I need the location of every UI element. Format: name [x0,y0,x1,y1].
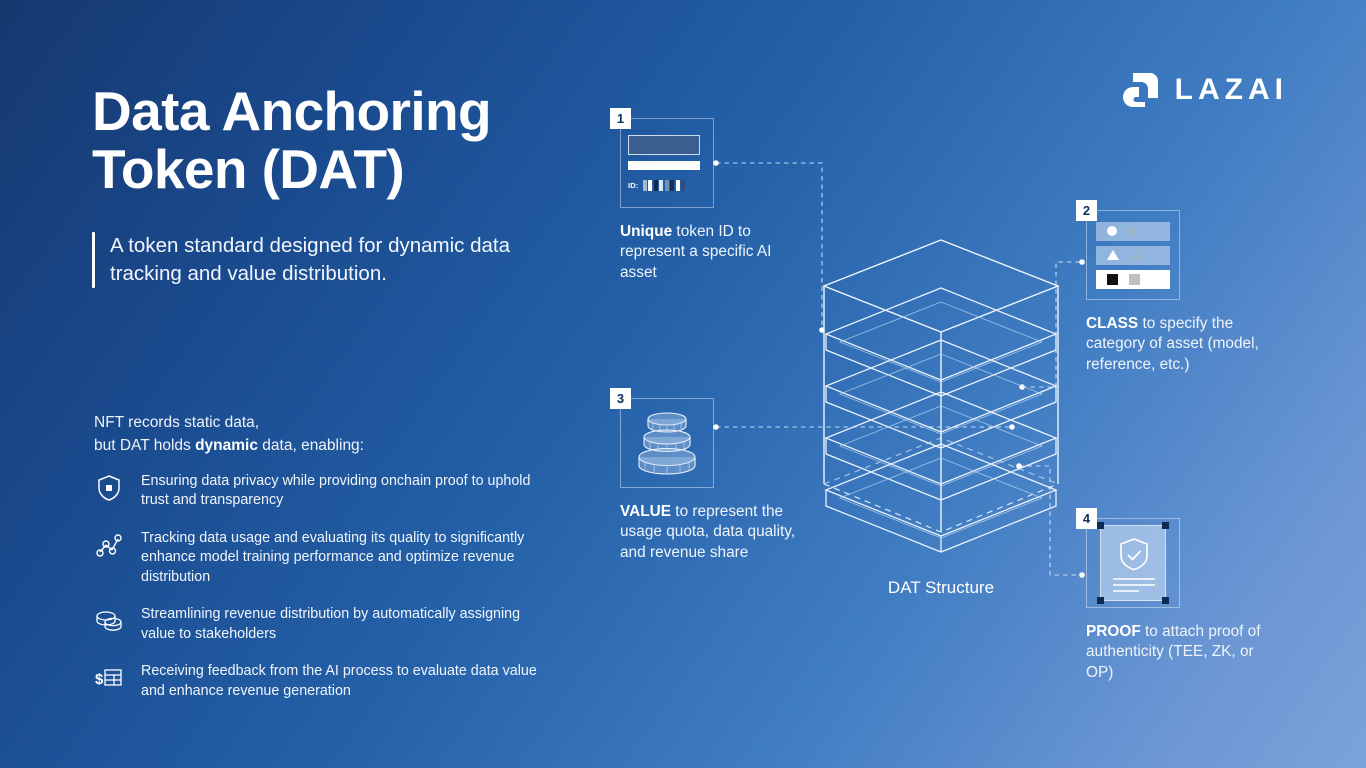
card1-light-bar [628,161,700,170]
brand-name: LAZAI [1175,75,1288,105]
class-shapes-icon: 2 [1086,210,1180,300]
card2-row-circles [1096,222,1170,241]
page-subtitle: A token standard designed for dynamic da… [110,232,562,288]
card2-row-squares [1096,270,1170,289]
page-title: Data Anchoring Token (DAT) [92,82,612,199]
benefits-list: Ensuring data privacy while providing on… [94,470,544,717]
card4-corner-marker [1162,522,1169,529]
list-item-label: Streamlining revenue distribution by aut… [141,603,544,644]
lazai-mark-icon [1123,72,1159,108]
card4-document [1100,525,1166,601]
dat-structure-diagram [806,236,1076,566]
structure-label: DAT Structure [806,578,1076,598]
card4-corner-marker [1097,597,1104,604]
callout-card-3: 3 VALUE to repres [620,398,810,563]
card1-barcode [643,180,686,191]
shield-icon [94,470,124,504]
card1-dark-bar [628,135,700,155]
callout-card-2: 2 CLASS to specify the category of asset… [1086,210,1276,375]
intro-line-2-suffix: data, enabling: [258,437,364,454]
card2-row-triangles [1096,246,1170,265]
callout-card-1: 1 ID: Unique token ID to represent a s [620,118,810,283]
title-block: Data Anchoring Token (DAT) [92,82,612,199]
card-badge: 1 [610,108,631,129]
list-item: Streamlining revenue distribution by aut… [94,603,544,644]
card1-caption-bold: Unique [620,223,672,240]
list-item: Tracking data usage and evaluating its q… [94,527,544,587]
svg-text:$: $ [95,671,104,688]
subtitle-block: A token standard designed for dynamic da… [92,232,562,288]
card4-corner-marker [1097,522,1104,529]
value-coins-icon: 3 [620,398,714,488]
card1-caption: Unique token ID to represent a specific … [620,222,810,283]
brand-logo: LAZAI [1123,72,1288,108]
intro-line-2-prefix: but DAT holds [94,437,195,454]
list-item: Ensuring data privacy while providing on… [94,470,544,511]
network-graph-icon [94,527,124,561]
card-badge: 2 [1076,200,1097,221]
intro-line-1: NFT records static data, [94,414,259,431]
proof-certificate-icon: 4 [1086,518,1180,608]
card3-caption-bold: VALUE [620,503,671,520]
list-item-label: Tracking data usage and evaluating its q… [141,527,544,587]
callout-card-4: 4 PROOF to attach proof of authenticity … [1086,518,1276,683]
card-badge: 4 [1076,508,1097,529]
card4-caption-bold: PROOF [1086,623,1141,640]
card2-caption-bold: CLASS [1086,315,1138,332]
intro-line-2-bold: dynamic [195,437,258,454]
list-item-label: Ensuring data privacy while providing on… [141,470,544,511]
subtitle-accent-bar [92,232,95,288]
card4-corner-marker [1162,597,1169,604]
card2-caption: CLASS to specify the category of asset (… [1086,314,1276,375]
list-item: $ Receiving feedback from the AI process… [94,660,544,701]
card-badge: 3 [610,388,631,409]
card3-caption: VALUE to represent the usage quota, data… [620,502,810,563]
intro-note: NFT records static data, but DAT holds d… [94,412,364,458]
list-item-label: Receiving feedback from the AI process t… [141,660,544,701]
revenue-table-icon: $ [94,660,124,694]
card1-id-label: ID: [628,181,639,190]
token-id-card-icon: 1 ID: [620,118,714,208]
card4-caption: PROOF to attach proof of authenticity (T… [1086,622,1276,683]
coins-icon [94,603,124,637]
